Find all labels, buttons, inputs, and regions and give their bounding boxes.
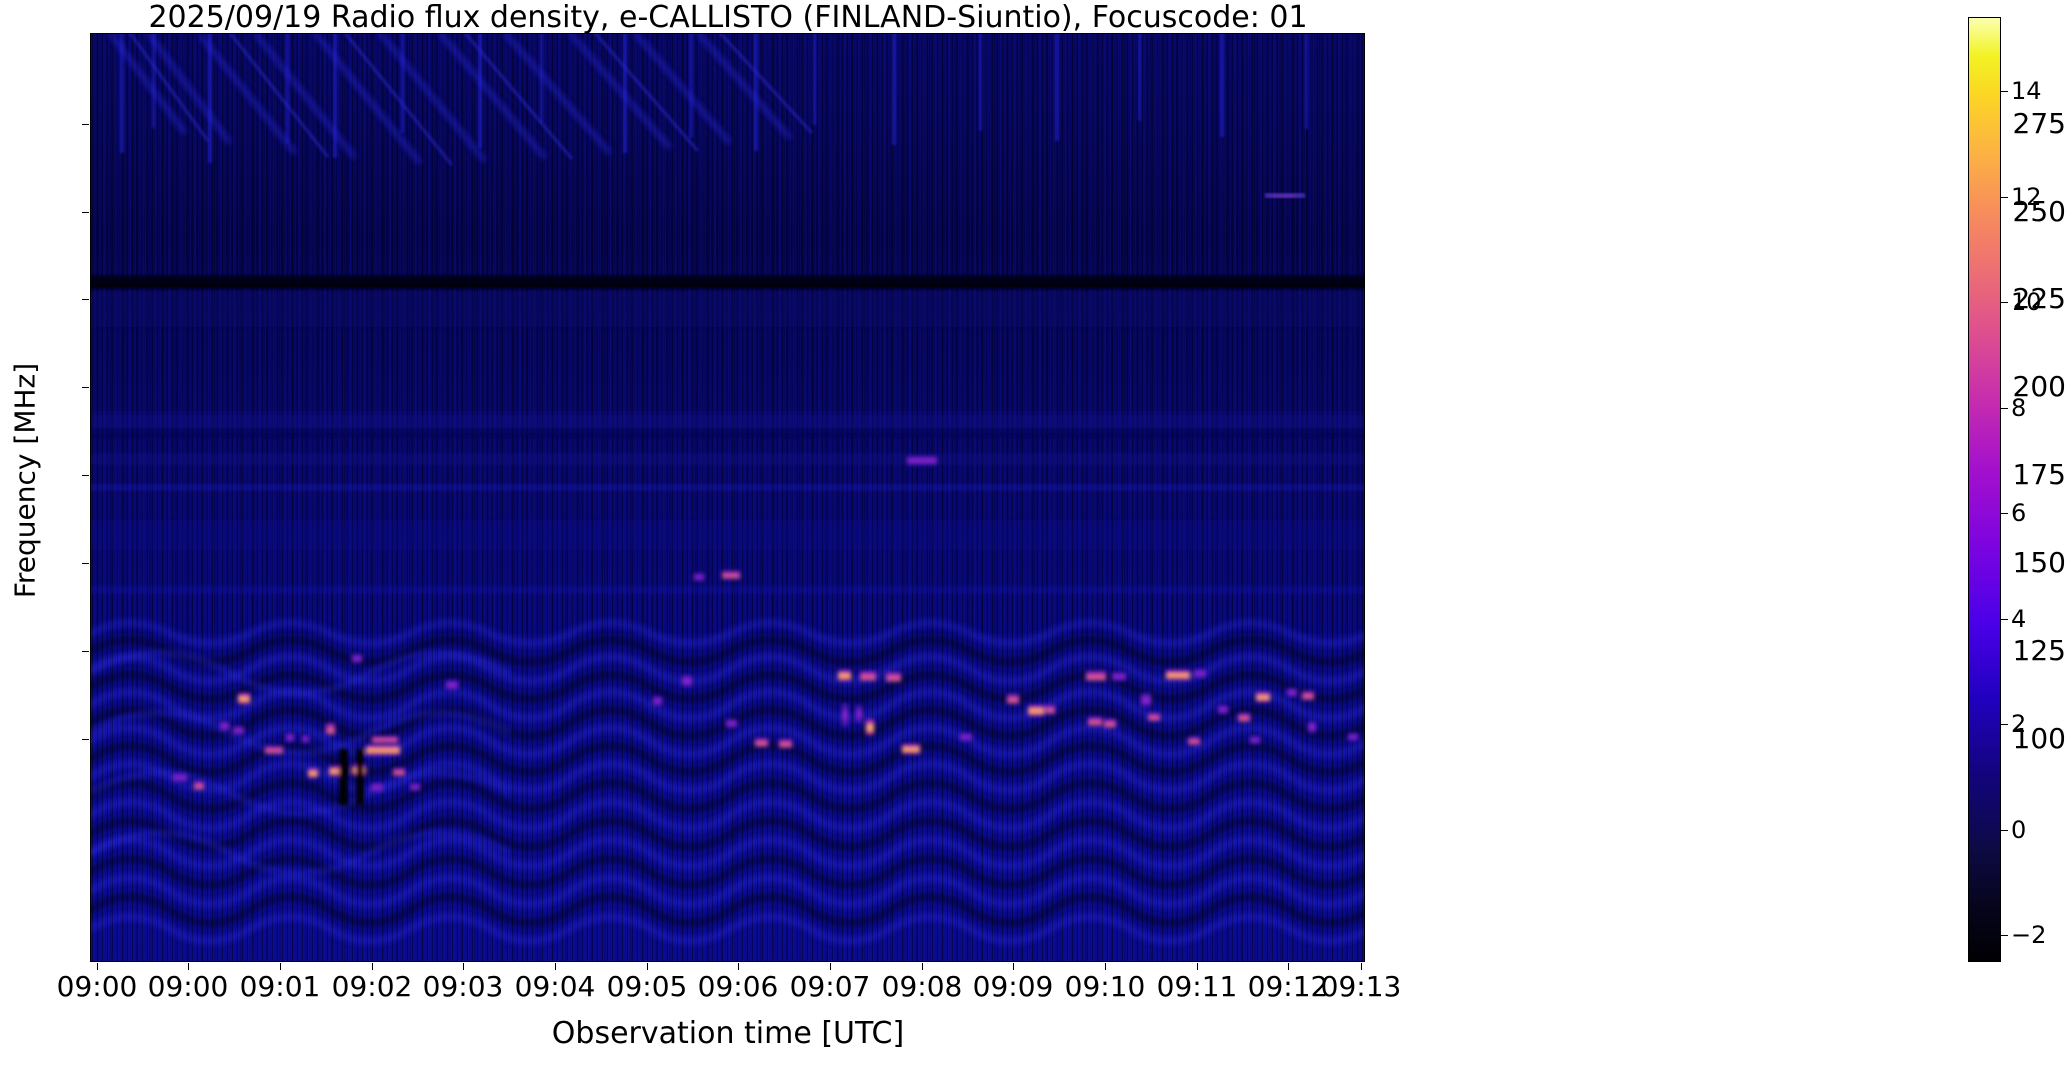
x-tick-mark <box>280 963 281 970</box>
colorbar-tick-label: 8 <box>2011 396 2026 420</box>
x-tick-mark <box>738 963 739 970</box>
y-tick-label: 200 <box>1992 373 2066 401</box>
x-tick-label: 09:13 <box>1276 972 1446 1002</box>
colorbar-tick-mark <box>2001 91 2008 92</box>
x-tick-mark <box>1288 963 1289 970</box>
x-tick-mark <box>372 963 373 970</box>
y-tick-mark <box>82 563 89 564</box>
x-tick-mark <box>922 963 923 970</box>
y-tick-mark <box>82 387 89 388</box>
y-tick-label: 150 <box>1992 549 2066 577</box>
colorbar-tick-label: 12 <box>2011 185 2042 209</box>
colorbar-tick-mark <box>2001 302 2008 303</box>
x-tick-mark <box>188 963 189 970</box>
colorbar-tick-label: 2 <box>2011 712 2026 736</box>
x-tick-mark <box>830 963 831 970</box>
y-tick-label: 125 <box>1992 637 2066 665</box>
y-tick-mark <box>82 739 89 740</box>
colorbar-tick-mark <box>2001 619 2008 620</box>
x-tick-mark <box>1105 963 1106 970</box>
colorbar-tick-mark <box>2001 830 2008 831</box>
y-tick-label: 175 <box>1992 461 2066 489</box>
y-tick-mark <box>82 212 89 213</box>
y-axis <box>0 33 80 962</box>
x-tick-mark <box>647 963 648 970</box>
colorbar-gradient[interactable] <box>1968 17 2001 962</box>
colorbar-tick-mark <box>2001 724 2008 725</box>
spectrogram-image[interactable] <box>90 33 1365 962</box>
colorbar-tick-label: 4 <box>2011 607 2026 631</box>
colorbar-tick-mark <box>2001 408 2008 409</box>
colorbar-tick-mark <box>2001 935 2008 936</box>
x-tick-mark <box>1197 963 1198 970</box>
colorbar-tick-label: −2 <box>2011 923 2046 947</box>
y-tick-mark <box>82 475 89 476</box>
x-tick-mark <box>1013 963 1014 970</box>
y-tick-label: 275 <box>1992 110 2066 138</box>
spectrogram-rfi-patches <box>90 33 1365 962</box>
x-axis-label: Observation time [UTC] <box>90 1016 1366 1051</box>
y-tick-mark <box>82 124 89 125</box>
y-tick-mark <box>82 651 89 652</box>
page-title: 2025/09/19 Radio flux density, e-CALLIST… <box>90 2 1366 34</box>
colorbar-tick-label: 14 <box>2011 79 2042 103</box>
y-tick-label: 100 <box>1992 725 2066 753</box>
x-tick-mark <box>463 963 464 970</box>
x-tick-mark <box>555 963 556 970</box>
colorbar-tick-label: 0 <box>2011 818 2026 842</box>
y-tick-mark <box>82 299 89 300</box>
x-tick-mark <box>1361 963 1362 970</box>
colorbar-tick-mark <box>2001 197 2008 198</box>
colorbar-tick-label: 6 <box>2011 501 2026 525</box>
colorbar-tick-mark <box>2001 513 2008 514</box>
x-tick-mark <box>97 963 98 970</box>
colorbar-tick-label: 10 <box>2011 290 2042 314</box>
